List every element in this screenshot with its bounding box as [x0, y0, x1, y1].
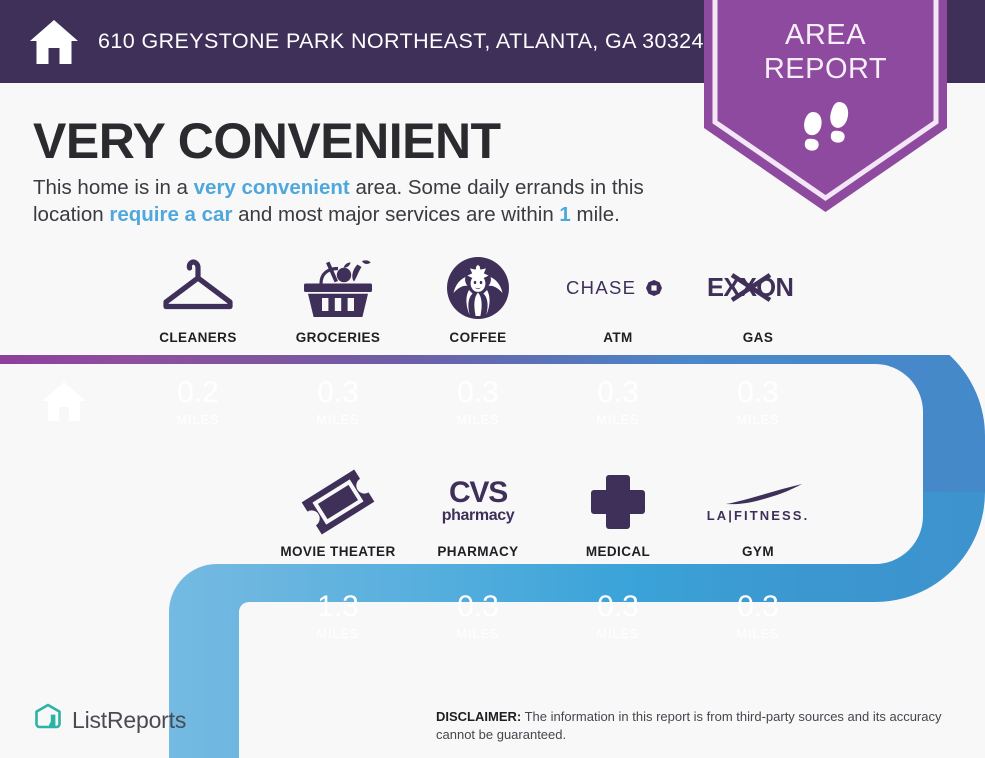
area-report-page: 610 GREYSTONE PARK NORTHEAST, ATLANTA, G…	[0, 0, 985, 758]
category-icon-row-1: CLEANERS	[128, 252, 828, 345]
summary-part-4: mile.	[571, 203, 620, 226]
category-gym: LA|FITNESS. GYM	[688, 466, 828, 559]
distance-unit: MILES	[456, 413, 499, 427]
distance-cell: 0.3 MILES	[548, 367, 688, 437]
distance-unit: MILES	[176, 413, 219, 427]
home-location-marker	[0, 367, 128, 437]
medical-cross-icon	[548, 466, 688, 538]
distance-unit: MILES	[736, 413, 779, 427]
page-title: VERY CONVENIENT	[33, 112, 501, 170]
cvs-logo-icon: CVS pharmacy	[408, 466, 548, 538]
clothes-hanger-icon	[128, 252, 268, 324]
distance-unit: MILES	[596, 627, 639, 641]
summary-part-3: and most major services are within	[232, 203, 559, 226]
svg-text:CVS: CVS	[449, 476, 507, 509]
distance-unit: MILES	[596, 413, 639, 427]
brand-name: ListReports	[72, 707, 186, 734]
distance-value: 1.3	[317, 592, 359, 622]
exxon-logo-icon: EXXON	[688, 252, 828, 324]
distance-unit: MILES	[316, 413, 359, 427]
footprints-icon	[704, 98, 947, 162]
distance-value: 0.3	[457, 592, 499, 622]
movie-ticket-icon	[268, 466, 408, 538]
summary-highlight-convenience: very convenient	[194, 176, 350, 199]
category-pharmacy: CVS pharmacy PHARMACY	[408, 466, 548, 559]
distance-cell: 0.3 MILES	[548, 581, 688, 651]
distance-cell: 0.3 MILES	[408, 581, 548, 651]
category-label: GROCERIES	[296, 330, 381, 345]
home-icon	[28, 16, 80, 68]
category-label: PHARMACY	[437, 544, 518, 559]
svg-text:pharmacy: pharmacy	[442, 507, 515, 524]
category-movie-theater: MOVIE THEATER	[268, 466, 408, 559]
distance-unit: MILES	[736, 627, 779, 641]
distance-value: 0.3	[737, 378, 779, 408]
category-coffee: COFFEE	[408, 252, 548, 345]
distance-value: 0.3	[737, 592, 779, 622]
distance-unit: MILES	[316, 627, 359, 641]
area-report-badge: AREA REPORT	[704, 0, 947, 212]
distance-cell: 1.3 MILES	[268, 581, 408, 651]
badge-line-1: AREA	[704, 18, 947, 52]
category-label: GAS	[743, 330, 773, 345]
summary-text: This home is in a very convenient area. …	[33, 174, 705, 229]
distance-cell: 0.2 MILES	[128, 367, 268, 437]
summary-highlight-miles: 1	[559, 203, 570, 226]
distance-value: 0.3	[317, 378, 359, 408]
distance-value: 0.3	[597, 592, 639, 622]
brand-logo: ListReports	[33, 702, 186, 738]
distance-cell: 0.3 MILES	[688, 367, 828, 437]
distance-row-1: 0.2 MILES 0.3 MILES 0.3 MILES 0.3 MILES …	[128, 367, 828, 437]
distance-value: 0.2	[177, 378, 219, 408]
category-label: CLEANERS	[159, 330, 236, 345]
distance-value: 0.3	[457, 378, 499, 408]
starbucks-logo-icon	[408, 252, 548, 324]
listreports-logo-icon	[33, 702, 63, 738]
category-gas: EXXON GAS	[688, 252, 828, 345]
category-medical: MEDICAL	[548, 466, 688, 559]
distance-cell: 0.3 MILES	[408, 367, 548, 437]
distance-row-2: 1.3 MILES 0.3 MILES 0.3 MILES 0.3 MILES	[268, 581, 828, 651]
distance-value: 0.3	[597, 378, 639, 408]
category-icon-row-2: MOVIE THEATER CVS pharmacy PHARMACY MEDI…	[268, 466, 828, 559]
distance-cell: 0.3 MILES	[268, 367, 408, 437]
disclaimer: DISCLAIMER: The information in this repo…	[436, 708, 956, 743]
category-atm: CHASE ATM	[548, 252, 688, 345]
category-label: COFFEE	[449, 330, 506, 345]
category-label: MEDICAL	[586, 544, 650, 559]
shopping-basket-icon	[268, 252, 408, 324]
summary-highlight-car: require a car	[109, 203, 232, 226]
category-groceries: GROCERIES	[268, 252, 408, 345]
distance-unit: MILES	[456, 627, 499, 641]
category-label: GYM	[742, 544, 774, 559]
badge-title: AREA REPORT	[704, 18, 947, 86]
disclaimer-label: DISCLAIMER:	[436, 709, 521, 724]
category-cleaners: CLEANERS	[128, 252, 268, 345]
svg-text:CHASE: CHASE	[566, 277, 636, 298]
badge-line-2: REPORT	[704, 52, 947, 86]
category-label: ATM	[603, 330, 632, 345]
la-fitness-logo-icon: LA|FITNESS.	[688, 466, 828, 538]
category-label: MOVIE THEATER	[280, 544, 395, 559]
distance-cell: 0.3 MILES	[688, 581, 828, 651]
chase-logo-icon: CHASE	[548, 252, 688, 324]
svg-text:LA|FITNESS.: LA|FITNESS.	[707, 508, 810, 523]
summary-part-1: This home is in a	[33, 176, 194, 199]
property-address: 610 GREYSTONE PARK NORTHEAST, ATLANTA, G…	[98, 29, 704, 54]
